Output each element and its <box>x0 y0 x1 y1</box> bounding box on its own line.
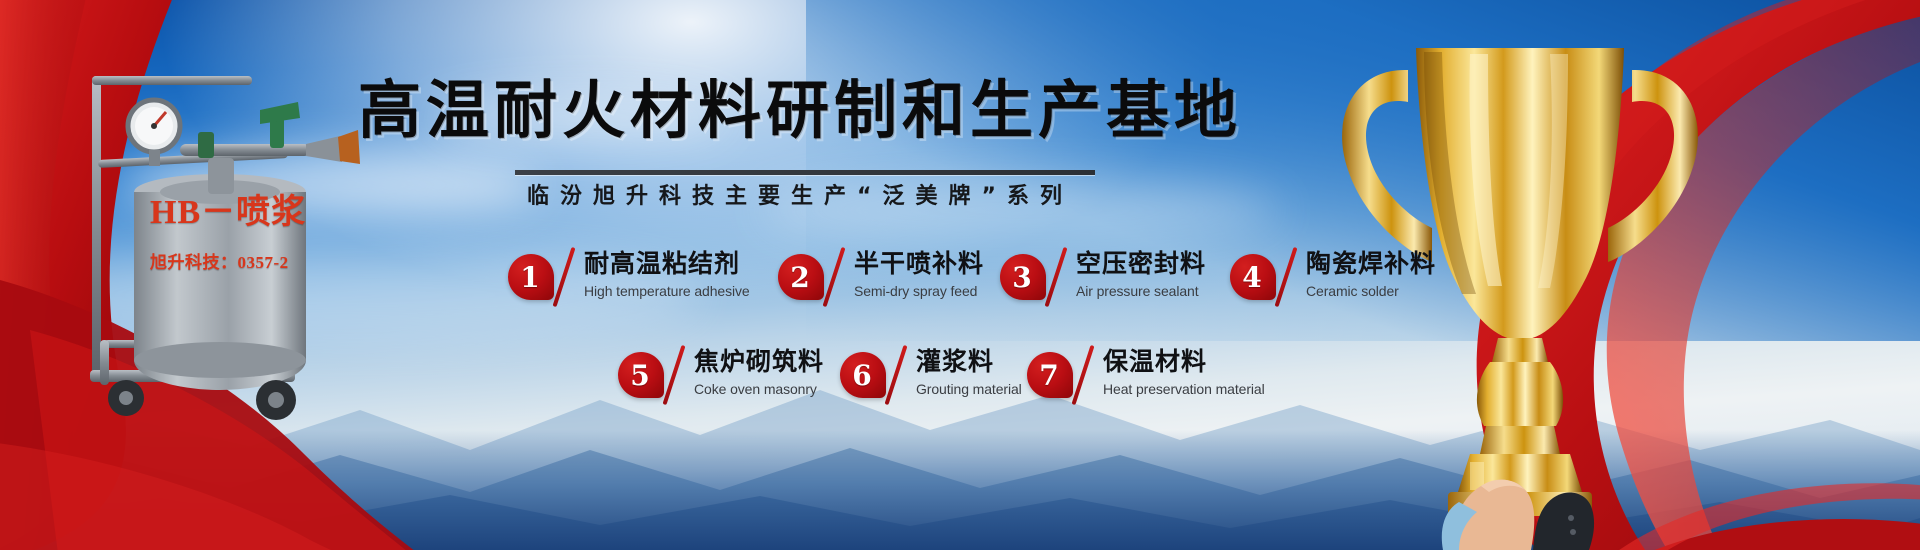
feature-title-zh: 半干喷补料 <box>854 250 984 278</box>
slash-icon <box>1274 250 1300 308</box>
feature-text: 陶瓷焊补料Ceramic solder <box>1306 250 1436 299</box>
slash-icon <box>1071 348 1097 406</box>
feature-number: 1 <box>508 254 554 300</box>
feature-title-en: Coke oven masonry <box>694 381 824 397</box>
feature-title-zh: 陶瓷焊补料 <box>1306 250 1436 278</box>
feature-title-zh: 焦炉砌筑料 <box>694 348 824 376</box>
promotional-banner: HB－喷浆 旭升科技：0357-2 高温耐火材料研制和生产基地 临汾旭升科技主要… <box>0 0 1920 550</box>
slash-icon <box>552 250 578 308</box>
feature-item-6[interactable]: 6灌浆料Grouting material <box>840 348 1022 406</box>
feature-number: 2 <box>778 254 824 300</box>
feature-text: 空压密封料Air pressure sealant <box>1076 250 1206 299</box>
feature-title-zh: 灌浆料 <box>916 348 1022 376</box>
feature-title-zh: 空压密封料 <box>1076 250 1206 278</box>
feature-text: 灌浆料Grouting material <box>916 348 1022 397</box>
feature-text: 半干喷补料Semi-dry spray feed <box>854 250 984 299</box>
feature-number: 5 <box>618 352 664 398</box>
headline-divider <box>515 170 1095 175</box>
feature-item-1[interactable]: 1耐高温粘结剂High temperature adhesive <box>508 250 750 308</box>
feature-title-zh: 保温材料 <box>1103 348 1265 376</box>
feature-item-3[interactable]: 3空压密封料Air pressure sealant <box>1000 250 1206 308</box>
feature-title-en: Heat preservation material <box>1103 381 1265 397</box>
feature-title-zh: 耐高温粘结剂 <box>584 250 750 278</box>
feature-title-en: Ceramic solder <box>1306 283 1436 299</box>
feature-text: 焦炉砌筑料Coke oven masonry <box>694 348 824 397</box>
feature-number: 4 <box>1230 254 1276 300</box>
subheadline: 临汾旭升科技主要生产“泛美牌”系列 <box>0 178 1600 210</box>
feature-title-en: Semi-dry spray feed <box>854 283 984 299</box>
feature-text: 保温材料Heat preservation material <box>1103 348 1265 397</box>
slash-icon <box>822 250 848 308</box>
feature-number-badge: 4 <box>1230 254 1276 300</box>
feature-number-badge: 6 <box>840 352 886 398</box>
slash-icon <box>884 348 910 406</box>
feature-item-7[interactable]: 7保温材料Heat preservation material <box>1027 348 1265 406</box>
feature-text: 耐高温粘结剂High temperature adhesive <box>584 250 750 299</box>
feature-number-badge: 5 <box>618 352 664 398</box>
feature-number-badge: 1 <box>508 254 554 300</box>
banner-copy: 高温耐火材料研制和生产基地 临汾旭升科技主要生产“泛美牌”系列 1耐高温粘结剂H… <box>0 0 1920 550</box>
feature-number: 7 <box>1027 352 1073 398</box>
feature-number: 3 <box>1000 254 1046 300</box>
slash-icon <box>1044 250 1070 308</box>
feature-number-badge: 7 <box>1027 352 1073 398</box>
feature-title-en: Grouting material <box>916 381 1022 397</box>
feature-number-badge: 3 <box>1000 254 1046 300</box>
slash-icon <box>662 348 688 406</box>
feature-title-en: High temperature adhesive <box>584 283 750 299</box>
feature-number-badge: 2 <box>778 254 824 300</box>
feature-title-en: Air pressure sealant <box>1076 283 1206 299</box>
feature-item-2[interactable]: 2半干喷补料Semi-dry spray feed <box>778 250 984 308</box>
feature-number: 6 <box>840 352 886 398</box>
feature-item-4[interactable]: 4陶瓷焊补料Ceramic solder <box>1230 250 1436 308</box>
feature-item-5[interactable]: 5焦炉砌筑料Coke oven masonry <box>618 348 824 406</box>
headline: 高温耐火材料研制和生产基地 <box>0 60 1600 151</box>
